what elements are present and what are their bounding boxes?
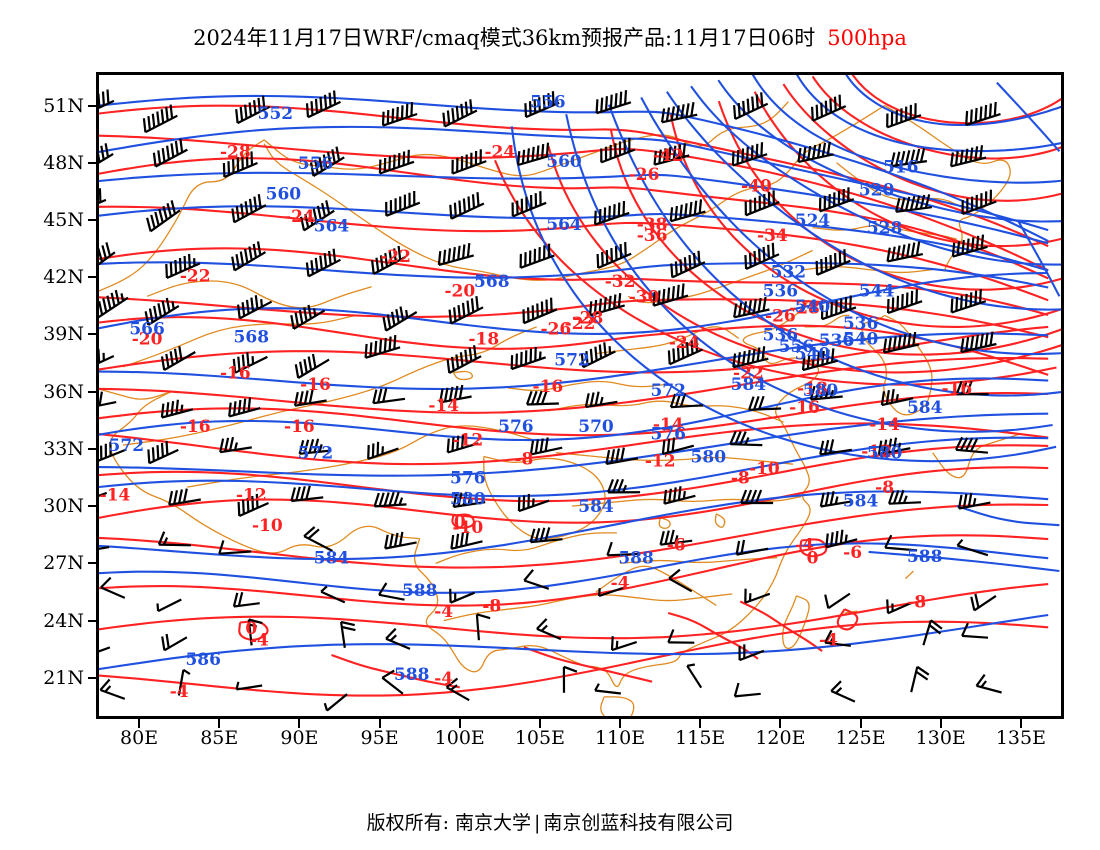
wind-barb: [375, 492, 407, 507]
height-contour-label: 552: [258, 104, 294, 124]
height-contour-label: 576: [498, 417, 534, 437]
wind-barb: [100, 680, 124, 699]
lon-tick: [379, 719, 381, 728]
wind-barb: [564, 667, 577, 693]
wind-barb: [448, 345, 482, 373]
lon-tick: [699, 719, 701, 728]
wind-barb: [730, 431, 762, 445]
wind-barb: [99, 392, 116, 409]
lat-tick-label: 21N: [24, 667, 84, 689]
wind-barb: [99, 188, 106, 214]
wind-barb: [386, 629, 410, 649]
temperature-contour-label: -6: [843, 543, 862, 563]
height-contour-label: 556: [779, 337, 815, 357]
height-contour-label: 536: [763, 282, 799, 302]
height-contour-labels: 5525565565605605645645665685685725725725…: [109, 93, 943, 685]
height-contour-label: 572: [109, 436, 145, 456]
wind-barb: [671, 199, 706, 221]
temperature-contour-label: -22: [180, 266, 211, 286]
chart-title-main: 2024年11月17日WRF/cmaq模式36km预报产品:11月17日06时: [193, 26, 815, 50]
height-contour-label: 584: [578, 497, 614, 517]
wind-barb: [817, 249, 851, 275]
lat-tick: [88, 276, 97, 278]
temperature-contour-label: -24: [484, 142, 515, 162]
lon-tick-label: 135E: [986, 727, 1056, 749]
height-contour-label: 564: [546, 215, 582, 235]
height-contour-label: 556: [298, 154, 334, 174]
boundary-line: [264, 106, 885, 281]
wind-barb: [450, 589, 474, 603]
lat-tick-label: 48N: [24, 152, 84, 174]
footer-separator: |: [534, 812, 540, 834]
temperature-contour-label: 0: [454, 512, 466, 532]
wind-barb: [99, 143, 113, 172]
lon-tick: [940, 719, 942, 728]
height-contour-label: 576: [650, 425, 686, 445]
lat-tick-label: 42N: [24, 266, 84, 288]
lon-tick: [459, 719, 461, 728]
lon-tick-label: 80E: [104, 727, 174, 749]
wind-barb: [443, 99, 477, 126]
height-contour-label: 516: [883, 158, 919, 178]
wind-barb: [734, 92, 768, 119]
temperature-contour-label: -14: [869, 415, 900, 435]
temperature-contour-label: -16: [789, 398, 820, 418]
wind-barb: [595, 684, 621, 694]
wind-barb: [158, 600, 182, 612]
wind-barb: [148, 441, 178, 463]
height-contour-label: 572: [650, 381, 686, 401]
height-contour: [869, 552, 1060, 571]
lat-tick: [88, 505, 97, 507]
height-contour-label: 588: [907, 547, 943, 567]
temperature-contour-label: -12: [452, 430, 483, 450]
height-contour-label: 580: [803, 381, 839, 401]
wind-barb: [595, 201, 629, 225]
boundary-line: [453, 371, 472, 379]
height-contour-label: 576: [450, 469, 486, 489]
temperature-contour-label: -14: [100, 486, 131, 506]
wind-barb: [383, 102, 417, 126]
temperature-contour-label: -20: [444, 282, 475, 302]
wind-barb: [745, 589, 770, 603]
temperature-contour-label: -18: [468, 329, 499, 349]
lon-tick: [138, 719, 140, 728]
temperature-contour-label: -4: [434, 602, 453, 622]
wind-barb: [735, 683, 761, 696]
temperature-contour-label: -26: [765, 306, 796, 326]
height-contour-label: 540: [843, 329, 879, 349]
height-contour-label: 524: [795, 211, 831, 231]
lon-tick: [218, 719, 220, 728]
wind-barb: [147, 200, 180, 231]
height-contour-label: 566: [129, 320, 165, 340]
height-contour: [957, 506, 1060, 525]
height-contour-label: 584: [731, 375, 767, 395]
lat-tick: [88, 448, 97, 450]
height-contour-label: 588: [402, 581, 438, 601]
temperature-contour-label: -12: [645, 451, 676, 471]
wind-barb: [798, 142, 833, 162]
temperature-contour-label: -16: [300, 375, 331, 395]
wind-barb: [220, 437, 252, 452]
temperature-contour-label: -42: [653, 146, 684, 166]
footer-copyright: 版权所有: 南京大学|南京创蓝科技有限公司: [0, 808, 1100, 835]
footer-owner: 版权所有: 南京大学: [367, 812, 531, 834]
boundary-line: [659, 518, 670, 529]
wind-barb: [608, 479, 640, 492]
lat-tick: [88, 620, 97, 622]
temperature-contour-label: -6: [667, 535, 686, 555]
temperature-contour: [99, 622, 1048, 696]
map-plot-area[interactable]: -28-26-24-24-22-22-20-20-22-24-22-18-18-…: [96, 72, 1064, 719]
wind-barb: [521, 244, 555, 268]
boundary-line: [715, 514, 724, 527]
temperature-contour-label: -24: [669, 333, 700, 353]
temperature-contour-label: -4: [819, 631, 838, 651]
lat-tick-label: 24N: [24, 610, 84, 632]
temperature-contour-label: -16: [284, 417, 315, 437]
height-contour: [839, 75, 1061, 125]
wind-barb: [237, 682, 263, 690]
wind-barb: [597, 90, 631, 113]
height-contour-label: 572: [554, 350, 590, 370]
temperature-contour: [740, 602, 822, 652]
lat-tick-label: 39N: [24, 323, 84, 345]
wind-barb: [232, 194, 266, 222]
temperature-contour-label: 0: [807, 549, 819, 569]
lon-tick-label: 105E: [505, 727, 575, 749]
height-contour-label: 584: [314, 549, 350, 569]
temperature-contour-label: -26: [541, 320, 572, 340]
temperature-contour-label: -24: [284, 207, 315, 227]
lon-tick: [539, 719, 541, 728]
height-contour-label: 544: [859, 282, 895, 302]
lon-tick-label: 110E: [585, 727, 655, 749]
wind-barb: [911, 667, 929, 692]
temperature-contour-label: -30: [629, 287, 660, 307]
wind-barb: [971, 594, 996, 610]
lon-tick-label: 95E: [345, 727, 415, 749]
height-contour-label: 532: [771, 263, 807, 283]
chart-title-level: 500hpa: [827, 26, 907, 50]
lat-tick: [88, 333, 97, 335]
temperature-contour-label: -4: [611, 574, 630, 594]
lat-tick: [88, 391, 97, 393]
wind-barb: [229, 397, 260, 416]
temperature-contour-label: -16: [941, 379, 972, 399]
wind-barb: [439, 243, 474, 265]
wind-barb: [450, 192, 484, 219]
wind-barb: [831, 681, 855, 701]
weather-map-svg: -28-26-24-24-22-22-20-20-22-24-22-18-18-…: [99, 75, 1061, 716]
height-contour-label: 560: [266, 184, 302, 204]
lat-tick-label: 45N: [24, 209, 84, 231]
height-contour-label: 572: [298, 444, 334, 464]
height-contour-label: 586: [185, 650, 221, 670]
wind-barb: [477, 614, 490, 640]
height-contour-label: 568: [234, 327, 269, 347]
lat-tick: [88, 105, 97, 107]
lon-tick: [619, 719, 621, 728]
wind-barb: [687, 665, 701, 688]
wind-barb: [373, 388, 405, 403]
wind-barb: [737, 540, 769, 555]
height-contour-label: 588: [394, 665, 430, 685]
temperature-contour-label: -26: [629, 165, 660, 185]
wind-barb: [304, 527, 332, 551]
temperature-contour-label: -28: [573, 308, 604, 328]
lat-tick-label: 51N: [24, 95, 84, 117]
lon-tick-label: 130E: [906, 727, 976, 749]
lat-tick-label: 33N: [24, 438, 84, 460]
lat-tick-label: 27N: [24, 552, 84, 574]
lon-tick-label: 100E: [425, 727, 495, 749]
temperature-contour-label: -10: [252, 516, 283, 536]
wind-barb: [977, 675, 1002, 693]
temperature-contour-label: -40: [741, 177, 772, 197]
height-contour-label: 560: [546, 152, 582, 172]
lon-tick-label: 90E: [264, 727, 334, 749]
temperature-contour-label: -8: [482, 596, 501, 616]
height-contour-label: 568: [474, 272, 510, 292]
temperature-contour-label: -36: [637, 226, 668, 246]
temperature-contour-label: -22: [380, 247, 411, 267]
height-contour-label: 520: [859, 181, 895, 201]
lat-tick: [88, 162, 97, 164]
lon-tick-label: 115E: [665, 727, 735, 749]
lat-tick-label: 36N: [24, 381, 84, 403]
temperature-contour-label: -34: [757, 226, 788, 246]
temperature-contour-label: -4: [434, 669, 453, 689]
temperature-contour-label: -8: [907, 593, 926, 613]
lat-tick: [88, 677, 97, 679]
temperature-contour-label: -10: [749, 459, 780, 479]
height-contour: [997, 83, 1060, 152]
wind-barb: [957, 540, 988, 556]
height-contour-label: 580: [867, 444, 903, 464]
wind-barb: [662, 102, 697, 122]
height-contour-label: 584: [907, 398, 943, 418]
lon-tick-label: 85E: [184, 727, 254, 749]
temperature-contour-label: -4: [170, 682, 189, 702]
wind-barb: [825, 594, 850, 609]
temperature-contour-label: -16: [180, 417, 211, 437]
wind-barb: [606, 448, 638, 464]
temperature-contour-label: -8: [731, 469, 750, 489]
wind-barb: [385, 532, 416, 549]
temperature-contour-label: -28: [220, 142, 251, 162]
lon-tick: [1020, 719, 1022, 728]
wind-barb: [99, 641, 110, 657]
wind-barb: [812, 95, 846, 121]
lat-tick: [88, 219, 97, 221]
height-contour-label: 528: [867, 219, 903, 239]
lon-tick: [779, 719, 781, 728]
height-contour-label: 556: [530, 93, 566, 113]
height-contour-label: 540: [795, 297, 831, 317]
height-contour-label: 564: [314, 217, 350, 237]
wind-barb: [99, 242, 115, 273]
wind-barb: [321, 586, 345, 602]
height-contour-label: 584: [843, 491, 879, 511]
temperature-contour-label: -16: [533, 377, 564, 397]
temperature-contour-label: -16: [220, 364, 251, 384]
boundary-line: [601, 697, 634, 716]
wind-barb: [99, 290, 128, 318]
temperature-contour-label: -14: [428, 396, 459, 416]
height-contour: [99, 414, 1048, 476]
lon-tick-label: 125E: [826, 727, 896, 749]
height-contour-label: 588: [618, 549, 654, 569]
boundary-line: [906, 571, 914, 579]
temperature-contour-label: -8: [514, 450, 533, 470]
lon-tick-label: 120E: [745, 727, 815, 749]
height-contour-label: 580: [691, 448, 727, 468]
wind-barb: [325, 694, 347, 711]
temperature-contour-label: 0: [245, 619, 257, 639]
footer-company: 南京创蓝科技有限公司: [543, 812, 733, 834]
height-contour-label: 570: [578, 417, 614, 437]
wind-barb: [162, 634, 187, 650]
lon-tick: [860, 719, 862, 728]
wind-barb: [291, 486, 323, 501]
wind-barb: [453, 149, 487, 173]
wind-barb: [234, 592, 260, 606]
wind-barb: [380, 150, 414, 174]
wind-barb: [307, 91, 341, 118]
chart-title: 2024年11月17日WRF/cmaq模式36km预报产品:11月17日06时5…: [0, 22, 1100, 52]
temperature-contour-label: -12: [236, 486, 267, 506]
height-contour-label: 580: [450, 490, 486, 510]
lon-tick: [298, 719, 300, 728]
wind-barb: [368, 442, 398, 459]
lat-tick: [88, 562, 97, 564]
lat-tick-label: 30N: [24, 495, 84, 517]
